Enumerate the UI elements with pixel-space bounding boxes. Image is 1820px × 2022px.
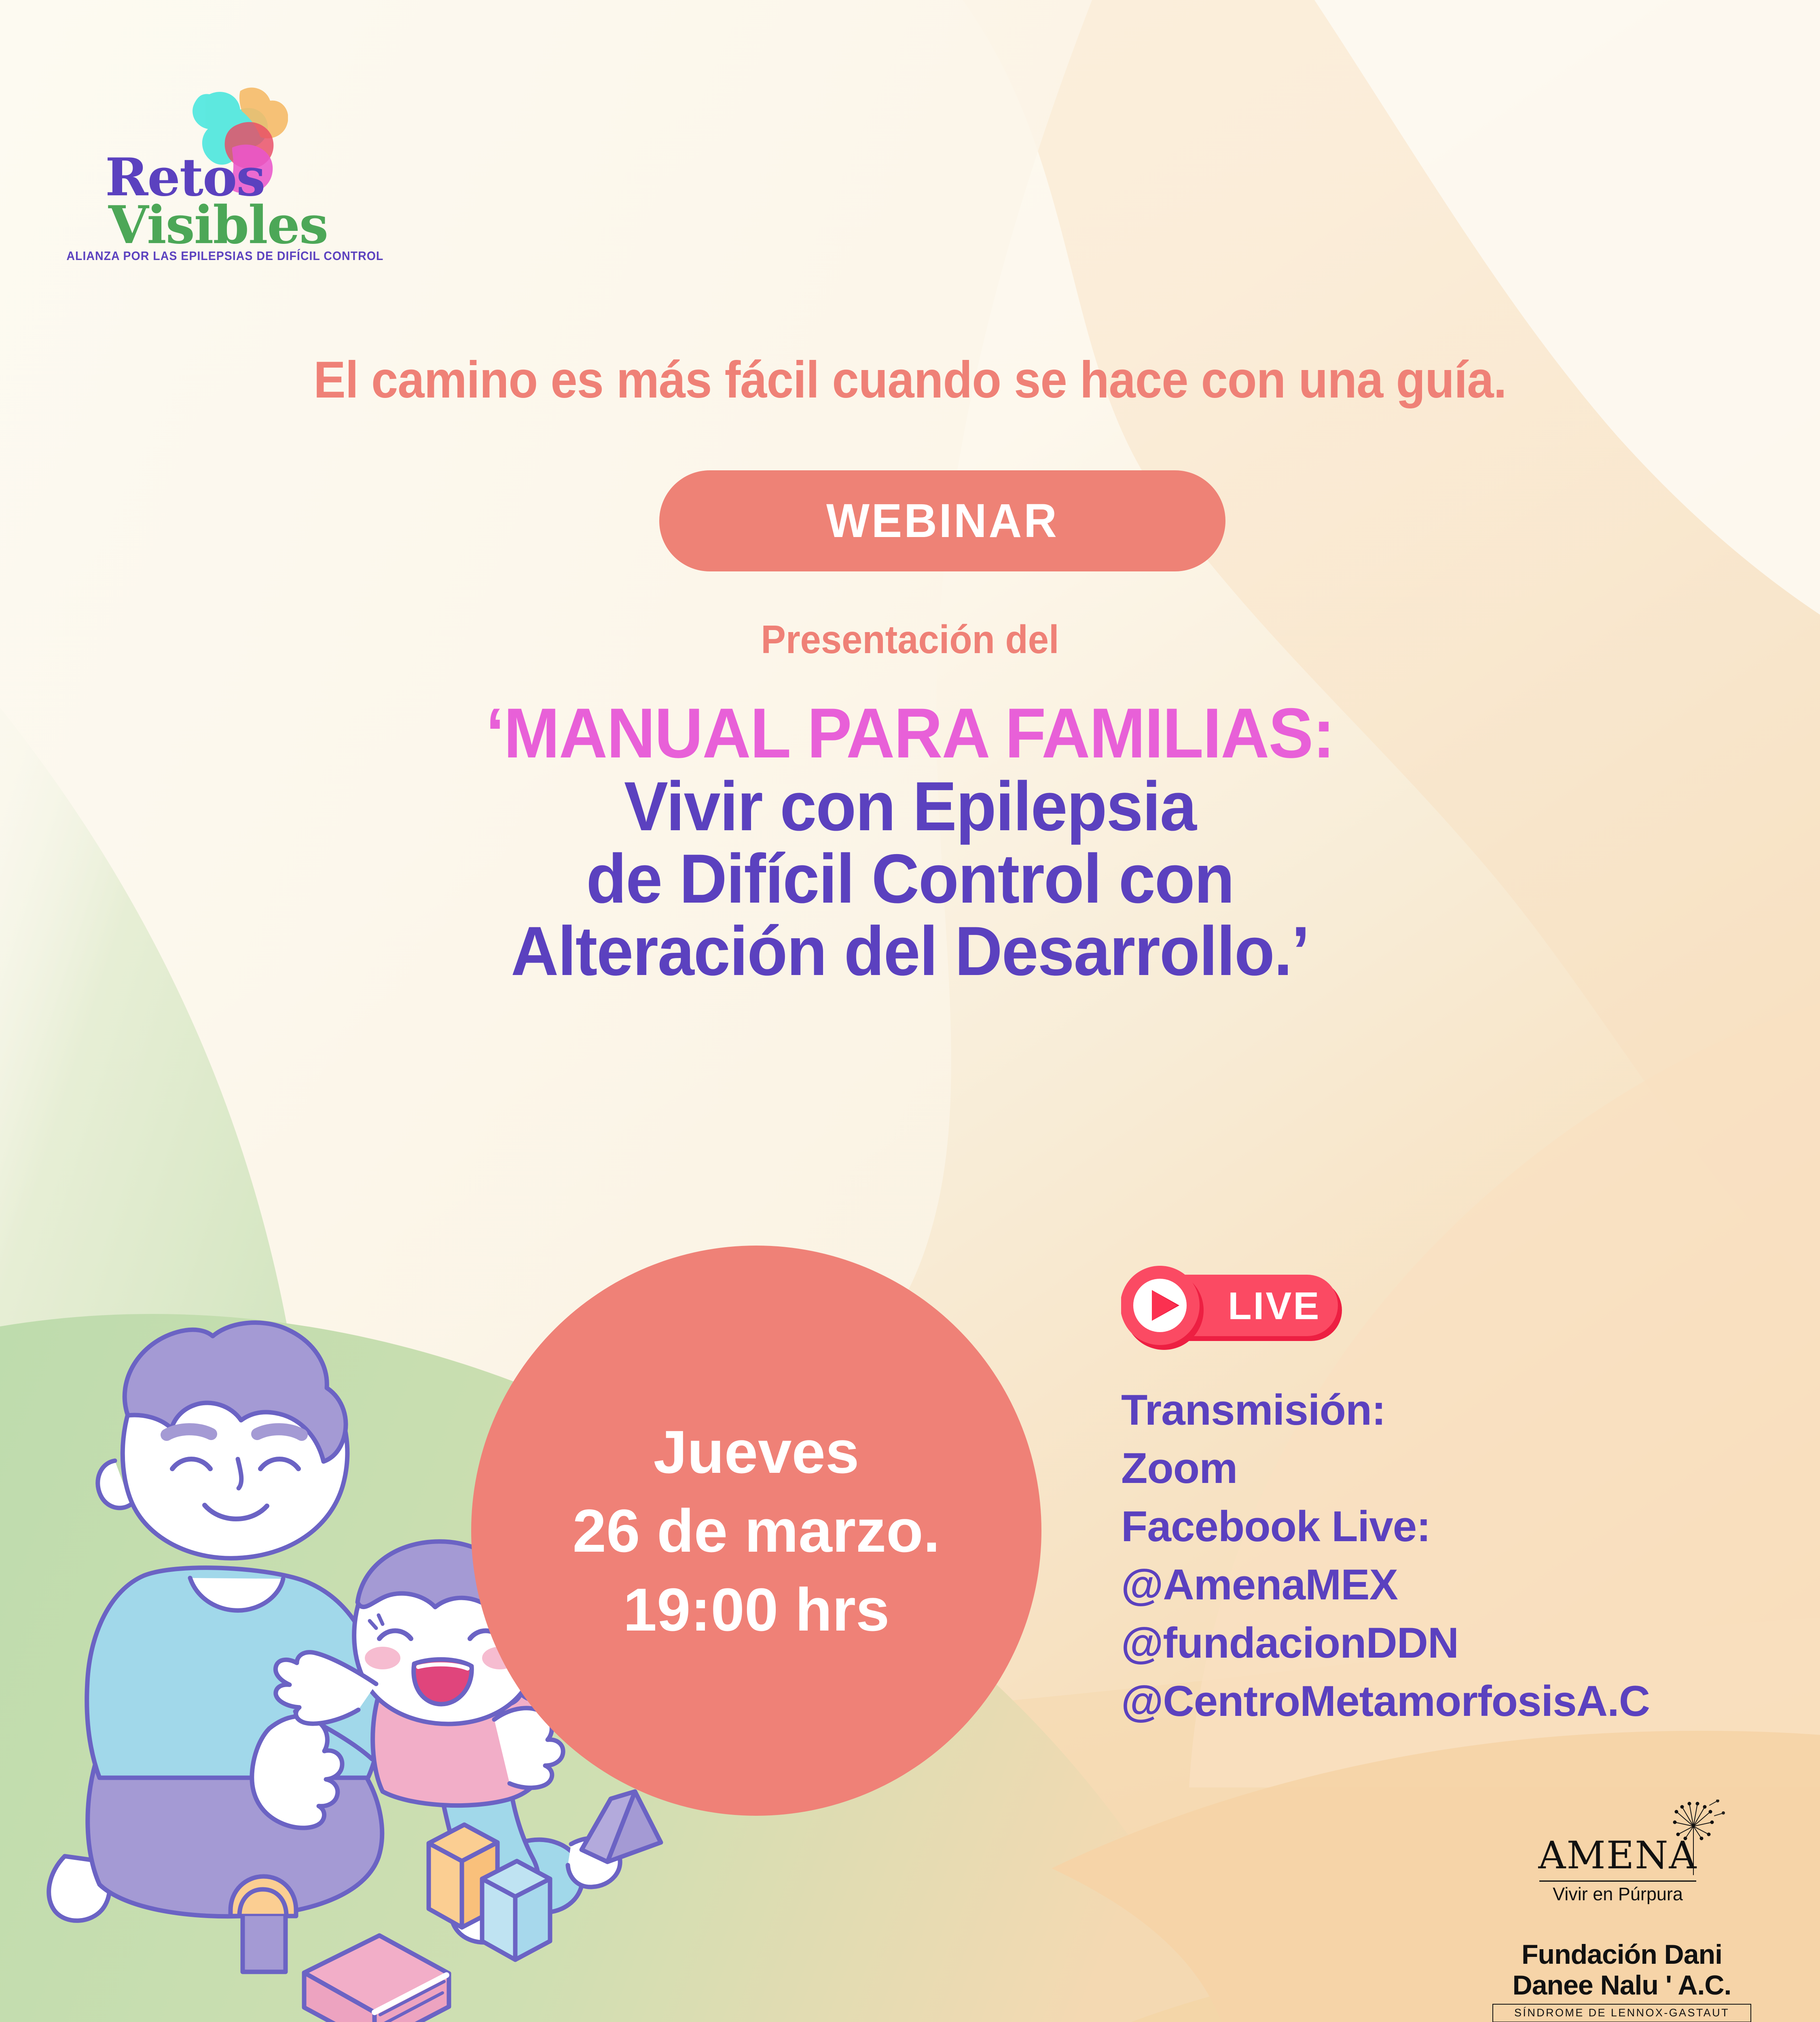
presentation-label: Presentación del (55, 617, 1765, 662)
title-line-4: Alteración del Desarrollo.’ (46, 915, 1775, 988)
header-tagline: El camino es más fácil cuando se hace co… (64, 350, 1757, 410)
event-day: Jueves (654, 1413, 859, 1491)
transmission-line-1: Transmisión: (1121, 1381, 1650, 1439)
transmission-line-3: Facebook Live: (1121, 1497, 1650, 1556)
live-label: LIVE (1228, 1284, 1321, 1328)
handle-amenamex[interactable]: @AmenaMEX (1121, 1556, 1650, 1614)
sponsor-amena-logo: AMENA Vivir en Púrpura (1533, 1804, 1743, 1905)
amena-tagline: Vivir en Púrpura (1533, 1884, 1703, 1905)
ddn-line-2: Danee Nalu ' A.C. (1492, 1970, 1751, 2001)
webinar-badge: WEBINAR (659, 470, 1225, 571)
transmission-platform-zoom: Zoom (1121, 1439, 1650, 1497)
ddn-subtitle-box: SÍNDROME DE LENNOX-GASTAUT (1492, 2004, 1751, 2022)
event-date-circle: Jueves 26 de marzo. 19:00 hrs (471, 1246, 1041, 1816)
amena-wordmark: AMENA (1533, 1837, 1703, 1875)
logo-tagline: ALIANZA POR LAS EPILEPSIAS DE DIFÍCIL CO… (66, 249, 312, 263)
logo-word-visibles: Visibles (108, 199, 328, 251)
title-line-1: ‘MANUAL PARA FAMILIAS: (46, 697, 1775, 770)
transmission-info: Transmisión: Zoom Facebook Live: @AmenaM… (1121, 1381, 1650, 1730)
sponsor-ddn-logo: Fundación Dani Danee Nalu ' A.C. SÍNDROM… (1492, 1939, 1751, 2022)
amena-rule (1539, 1880, 1696, 1882)
poster-canvas: Retos Visibles ALIANZA POR LAS EPILEPSIA… (0, 0, 1820, 2022)
webinar-label: WEBINAR (826, 493, 1059, 548)
event-date: 26 de marzo. (573, 1491, 940, 1570)
retos-visibles-logo: Retos Visibles ALIANZA POR LAS EPILEPSIA… (61, 79, 320, 257)
event-time: 19:00 hrs (623, 1570, 890, 1649)
live-badge[interactable]: LIVE (1121, 1265, 1348, 1352)
page-title: ‘MANUAL PARA FAMILIAS: Vivir con Epileps… (0, 697, 1820, 988)
title-line-3: de Difícil Control con (46, 843, 1775, 915)
handle-centrometamorfosis[interactable]: @CentroMetamorfosisA.C (1121, 1672, 1650, 1730)
ddn-line-1: Fundación Dani (1492, 1939, 1751, 1970)
handle-fundacionddn[interactable]: @fundacionDDN (1121, 1614, 1650, 1672)
title-line-2: Vivir con Epilepsia (46, 770, 1775, 843)
